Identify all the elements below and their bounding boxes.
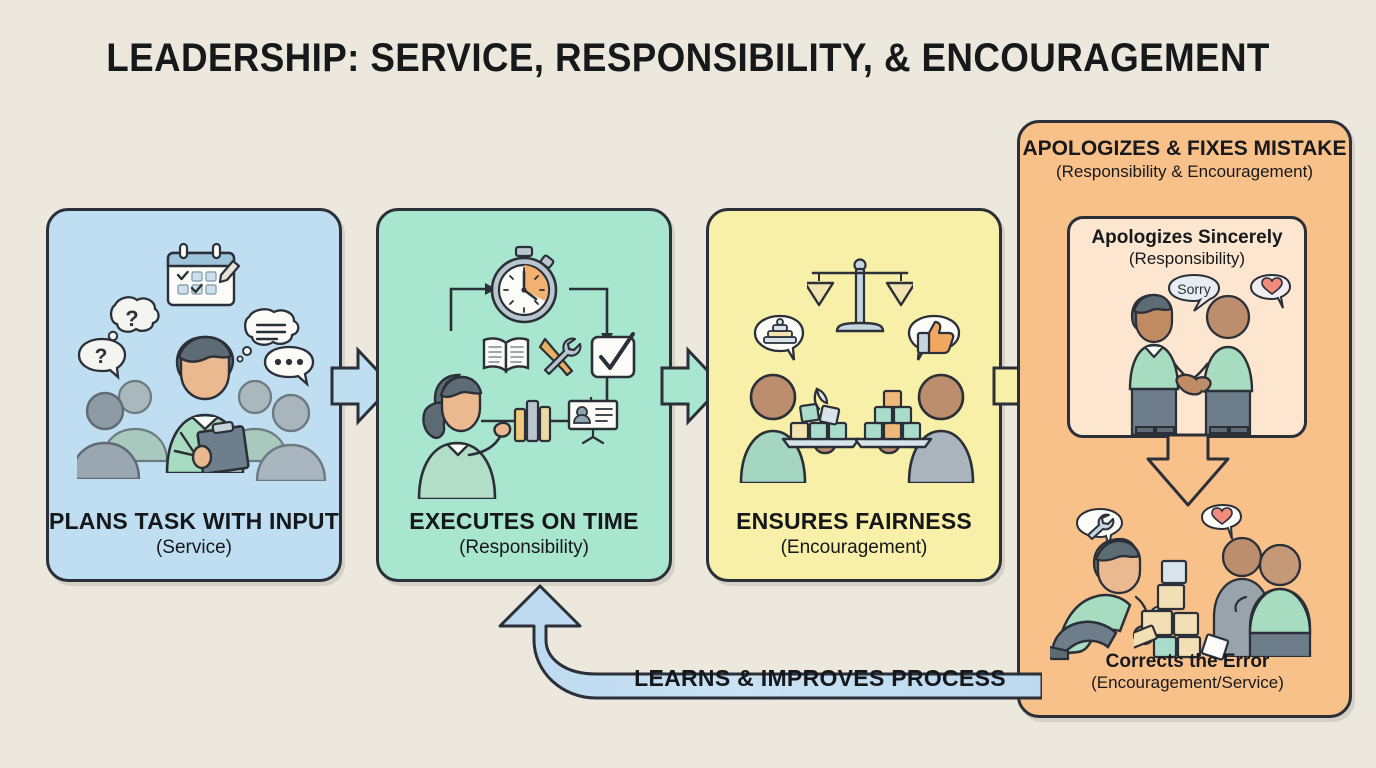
- checkbox-icon: [589, 331, 639, 381]
- subcard-corrects-the-error[interactable]: Corrects the Error (Encouragement/Servic…: [1050, 503, 1325, 703]
- stage-label-main: ENSURES FAIRNESS: [709, 509, 999, 534]
- open-book-icon: [481, 335, 531, 375]
- svg-text:?: ?: [95, 345, 108, 368]
- blocks-icon: [1134, 555, 1244, 661]
- onlookers-icon: [1210, 531, 1320, 657]
- process-flow-lines: [441, 241, 621, 471]
- stage-label-executes-on-time: EXECUTES ON TIME (Responsibility): [379, 509, 669, 560]
- stage-box-plans-task[interactable]: ? ?: [46, 208, 342, 582]
- page-title: LEADERSHIP: SERVICE, RESPONSIBILITY, & E…: [55, 36, 1321, 81]
- stage-label-sub: (Responsibility): [379, 536, 669, 560]
- panel-header-main: APOLOGIZES & FIXES MISTAKE: [1020, 137, 1349, 160]
- subcard-label-corrects-the-error: Corrects the Error (Encouragement/Servic…: [1050, 651, 1325, 693]
- stage-box-ensures-fairness[interactable]: ENSURES FAIRNESS (Encouragement): [706, 208, 1002, 582]
- sorry-speech-bubble-icon: [1166, 273, 1222, 313]
- stage-box-apologizes-fixes-mistake[interactable]: APOLOGIZES & FIXES MISTAKE (Responsibili…: [1017, 120, 1352, 718]
- arrow-apologizes-to-corrects: [1146, 433, 1230, 507]
- stage-label-sub: (Service): [49, 536, 339, 560]
- panel-header-sub: (Responsibility & Encouragement): [1020, 161, 1349, 182]
- calendar-icon: [159, 241, 245, 315]
- scales-of-justice-icon: [807, 257, 913, 341]
- cake-speech-bubble-icon: [751, 313, 809, 371]
- heart-speech-bubble-icon: [1198, 503, 1248, 549]
- books-icon: [513, 397, 557, 443]
- handshake-icon: [1118, 289, 1268, 435]
- subcard-label-main: Corrects the Error: [1050, 651, 1325, 673]
- presentation-board-icon: [565, 395, 621, 445]
- stopwatch-icon: [485, 245, 563, 325]
- stage-box-executes-on-time[interactable]: EXECUTES ON TIME (Responsibility): [376, 208, 672, 582]
- stage-label-sub: (Encouragement): [709, 536, 999, 560]
- subcard-label-main: Apologizes Sincerely: [1070, 227, 1304, 249]
- question-thought-bubble-icon: ?: [101, 295, 163, 351]
- kneeling-person-with-wrench-icon: [1050, 535, 1190, 665]
- lines-speech-bubble-icon: [233, 307, 307, 369]
- subcard-label-sub: (Responsibility): [1070, 249, 1304, 269]
- stage-label-ensures-fairness: ENSURES FAIRNESS (Encouragement): [709, 509, 999, 560]
- panel-header-apologizes-fixes-mistake: APOLOGIZES & FIXES MISTAKE (Responsibili…: [1020, 137, 1349, 182]
- stage-label-main: EXECUTES ON TIME: [379, 509, 669, 534]
- feedback-loop-label: LEARNS & IMPROVES PROCESS: [600, 665, 1040, 692]
- question-speech-bubble-icon: ?: [75, 335, 129, 385]
- stage-label-plans-task: PLANS TASK WITH INPUT (Service): [49, 509, 339, 560]
- sorry-bubble-text: Sorry: [1166, 281, 1222, 297]
- tools-icon: [537, 335, 583, 377]
- stage-label-main: PLANS TASK WITH INPUT: [49, 509, 339, 534]
- subcard-apologizes-sincerely[interactable]: Apologizes Sincerely (Responsibility) So…: [1067, 216, 1307, 438]
- person-with-tray-icon: [855, 369, 975, 483]
- wrench-speech-bubble-icon: [1074, 507, 1126, 555]
- person-with-clipboard-icon: [145, 333, 265, 473]
- crowd-icon: [77, 369, 167, 479]
- person-pointing-icon: [411, 369, 521, 499]
- subcard-label-sub: (Encouragement/Service): [1050, 673, 1325, 693]
- thumbs-up-speech-bubble-icon: [905, 313, 963, 371]
- person-with-tray-icon: [739, 369, 859, 483]
- crowd-icon: [229, 369, 329, 481]
- heart-speech-bubble-icon: [1248, 273, 1296, 317]
- svg-text:?: ?: [125, 306, 138, 331]
- ellipsis-speech-bubble-icon: [259, 343, 319, 395]
- subcard-label-apologizes-sincerely: Apologizes Sincerely (Responsibility): [1070, 227, 1304, 269]
